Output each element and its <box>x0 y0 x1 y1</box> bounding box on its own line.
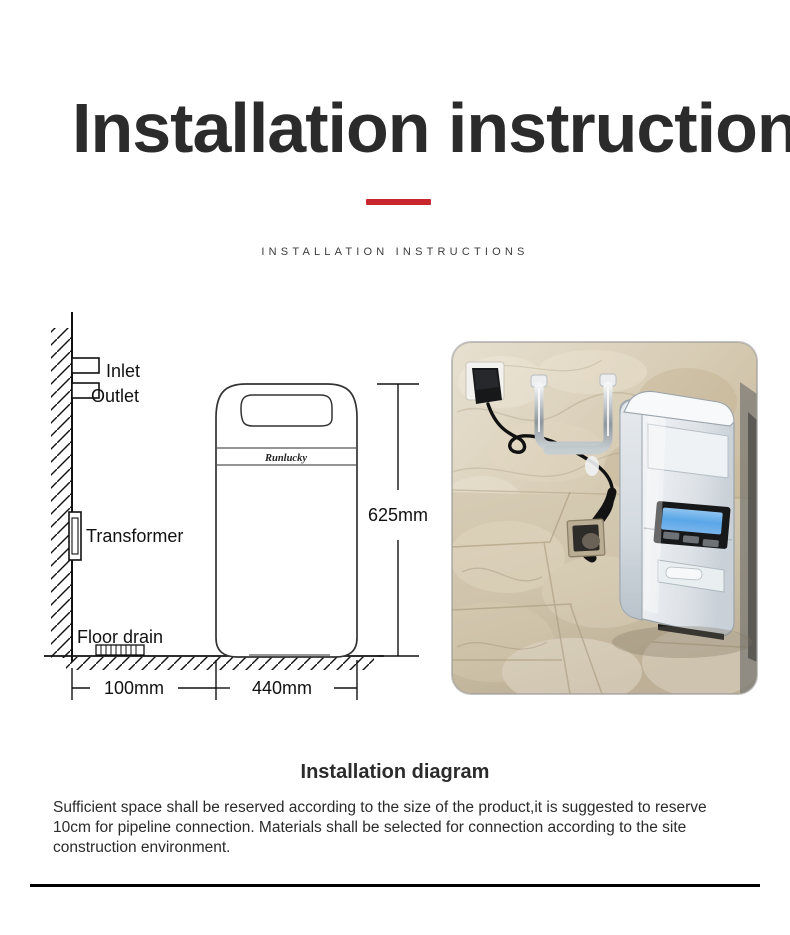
transformer-box <box>69 512 81 560</box>
label-transformer: Transformer <box>86 526 183 546</box>
adapter-highlight <box>474 370 499 390</box>
brand-label: Runlucky <box>264 453 307 464</box>
page-title: Installation instruction <box>72 93 732 163</box>
dim-440-label: 440mm <box>252 678 312 698</box>
dim-100-label: 100mm <box>104 678 164 698</box>
pipe-drip-fitting <box>585 456 599 476</box>
softener-lid-outline <box>241 395 332 426</box>
unit-left-side <box>620 400 642 620</box>
page-subtitle: INSTALLATION INSTRUCTIONS <box>0 246 790 258</box>
installation-diagram: Runlucky 625mm 100mm 440mm <box>44 300 454 715</box>
height-dimension: 625mm <box>368 384 428 656</box>
transformer-adapter <box>466 362 504 404</box>
installation-photo <box>452 342 757 694</box>
floor-hatch <box>66 657 374 670</box>
control-button-left <box>663 531 680 539</box>
caption-title: Installation diagram <box>0 761 790 784</box>
water-softener-unit: Runlucky <box>216 384 357 657</box>
label-outlet: Outlet <box>91 386 139 406</box>
caption-body: Sufficient space shall be reserved accor… <box>53 798 739 858</box>
unit-lid-handle <box>666 567 703 580</box>
floor-drain-hose-entry <box>582 533 600 549</box>
wall-group <box>51 312 72 662</box>
bottom-divider <box>30 884 760 887</box>
door-frame-shadow <box>748 412 757 662</box>
label-floor-drain: Floor drain <box>77 627 163 647</box>
height-dim-label: 625mm <box>368 505 428 525</box>
control-panel <box>653 501 730 549</box>
wall-hatch <box>51 328 71 658</box>
inlet-port <box>72 358 99 373</box>
control-button-right <box>702 539 719 547</box>
softener-unit-photo <box>620 392 734 641</box>
floor-drain <box>567 519 605 557</box>
control-button-middle <box>683 535 700 543</box>
title-divider <box>366 199 431 205</box>
label-inlet: Inlet <box>106 361 140 381</box>
unit-floor-shadow <box>612 626 752 658</box>
floor-group <box>44 656 384 670</box>
